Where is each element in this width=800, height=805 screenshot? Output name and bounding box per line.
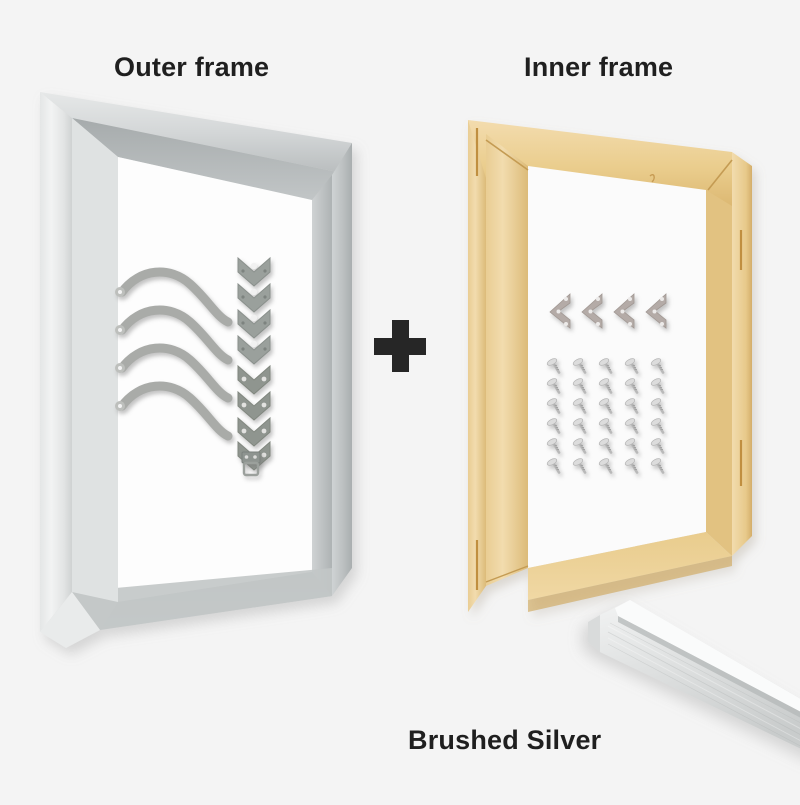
brushed-silver-swatch xyxy=(560,590,800,805)
inner-frame-right-inner xyxy=(706,190,732,556)
plus-vertical-bar xyxy=(392,320,409,372)
outer-frame-right-bevel xyxy=(312,175,332,596)
outer-frame-left-side xyxy=(40,92,72,632)
product-comparison-image: Outer frame Inner frame Brushed Silver xyxy=(0,0,800,800)
swatch-label: Brushed Silver xyxy=(408,725,601,756)
swatch-corner-miter xyxy=(588,615,600,652)
inner-frame-label: Inner frame xyxy=(524,52,673,83)
outer-frame-left-bevel xyxy=(72,118,118,602)
plus-sign xyxy=(374,320,426,372)
inner-frame-left-side xyxy=(468,120,486,612)
outer-frame-mat xyxy=(118,157,312,602)
inner-frame-right-rail xyxy=(732,152,752,556)
inner-frame-left-rail xyxy=(486,134,528,586)
outer-frame-product xyxy=(0,0,420,700)
outer-frame-right-rail xyxy=(332,143,352,596)
outer-frame-label: Outer frame xyxy=(114,52,269,83)
